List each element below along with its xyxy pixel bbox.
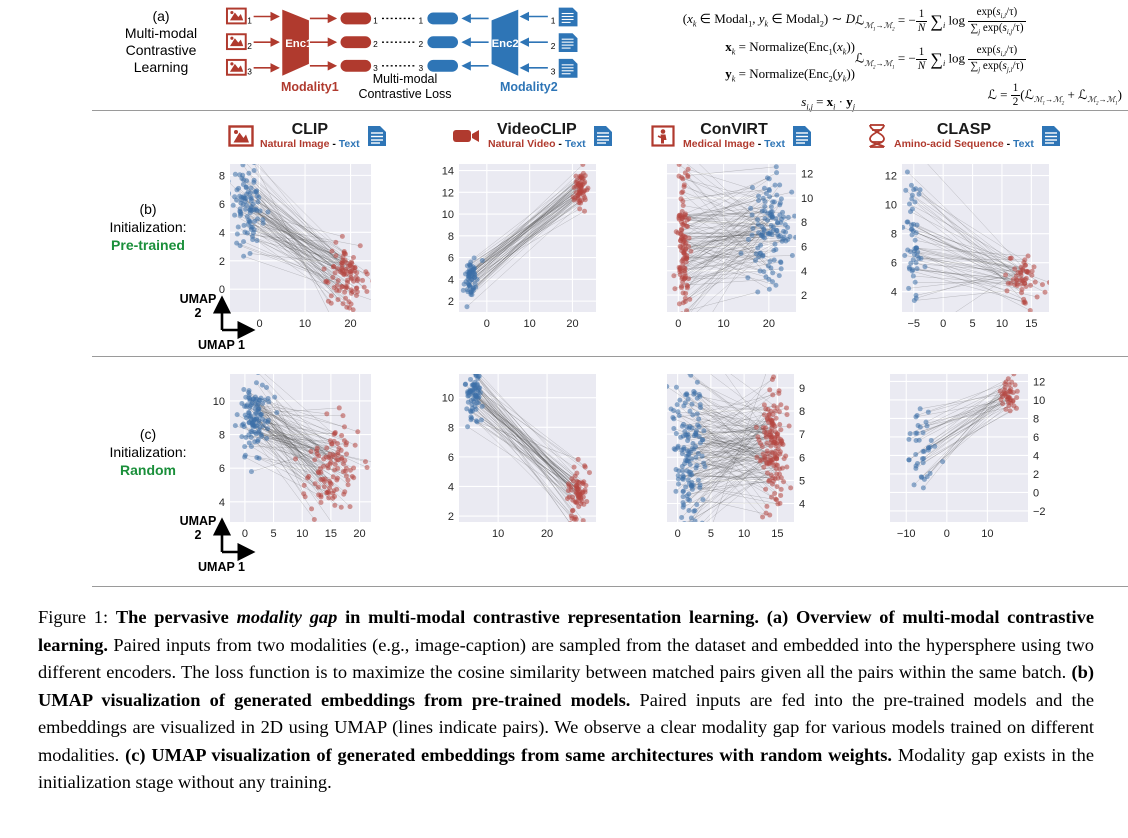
x-tick-label: 10 (981, 528, 993, 540)
encoder-2-label: Enc2 (492, 38, 519, 50)
y-tick-label: 8 (448, 231, 454, 243)
plot-canvas-convirt-pretrained: 0102024681012 (645, 158, 820, 338)
x-tick-label: 20 (541, 528, 553, 540)
model-modalities: Natural Image - Text (260, 139, 360, 150)
x-axis-label-row-c: UMAP 1 (198, 560, 245, 574)
input-index-2: 2 (247, 41, 252, 51)
modality-sep: - (556, 138, 565, 150)
modality-b: Text (1013, 138, 1034, 150)
x-tick-label: −10 (897, 528, 916, 540)
axis-arrows-row-b (213, 292, 261, 340)
document-icon (366, 124, 388, 148)
modality-a: Natural Video (488, 138, 556, 150)
equation-block-losses: ℒℳ1→ℳ2 = −1N ∑i log exp(si,i/τ)∑j exp(si… (855, 6, 1128, 118)
modality-b: Text (764, 138, 785, 150)
row-b-letter: (b) (88, 200, 208, 218)
scatter-plot-videoclip-pretrained: 010202468101214 (425, 158, 600, 338)
scatter-plot-convirt-pretrained: 0102024681012 (645, 158, 820, 338)
y-axis-label-line-2: 2 (176, 528, 220, 542)
equation-block-definitions: (xk ∈ Modal1, yk ∈ Modal2) ∼ D xk = Norm… (620, 8, 855, 118)
modality-a: Medical Image (683, 138, 755, 150)
x-tick-label: 20 (353, 528, 365, 540)
model-name: CLASP (937, 122, 991, 139)
embedding-blue-3 (427, 60, 458, 72)
input-index-1: 1 (247, 15, 252, 25)
model-modalities: Natural Video - Text (488, 139, 586, 150)
row-label-random: (c) Initialization: Random (88, 425, 208, 479)
panel-a-caption-label: (a) Multi-modal Contrastive Learning (96, 8, 226, 76)
column-header-clasp: CLASP Amino-acid Sequence - Text (866, 118, 1062, 154)
embedding-blue-index-1: 1 (419, 15, 424, 25)
column-header-clip: CLIP Natural Image - Text (228, 118, 388, 154)
y-tick-label: 4 (219, 227, 225, 239)
equation-x-normalize: xk = Normalize(Enc1(xk)) (620, 36, 855, 64)
modality-b: Text (339, 138, 360, 150)
y-tick-label: −2 (1033, 506, 1046, 518)
x-tick-label: 10 (492, 528, 504, 540)
panel-a-title-line-1: Multi-modal (96, 25, 226, 42)
input-index-3: 3 (247, 67, 252, 77)
y-axis-label-row-c: UMAP 2 (176, 514, 220, 542)
y-tick-label: 4 (801, 266, 807, 278)
model-modalities: Medical Image - Text (683, 139, 785, 150)
embedding-red-2 (341, 36, 372, 48)
x-tick-label: 0 (675, 528, 681, 540)
y-axis-label-row-b: UMAP 2 (176, 292, 220, 320)
x-tick-label: 20 (763, 318, 775, 330)
embedding-red-index-1: 1 (373, 15, 378, 25)
y-tick-label: 8 (448, 422, 454, 434)
video-camera-icon (452, 124, 482, 148)
y-tick-label: 2 (219, 256, 225, 268)
y-tick-label: 2 (448, 511, 454, 523)
scatter-plot-videoclip-random: 1020246810 (425, 368, 600, 548)
model-name: ConVIRT (700, 122, 768, 139)
modality-sep: - (329, 138, 338, 150)
contrastive-loss-label: Multi-modal Contrastive Loss (345, 72, 465, 102)
y-tick-label: 8 (219, 170, 225, 182)
x-tick-label: 20 (566, 318, 578, 330)
modality-a: Natural Image (260, 138, 329, 150)
xray-icon (651, 124, 677, 148)
x-tick-label: 10 (738, 528, 750, 540)
caption-bold-3: (c) UMAP visualization of generated embe… (125, 745, 892, 765)
x-tick-label: 5 (969, 318, 975, 330)
y-tick-label: 10 (1033, 395, 1045, 407)
y-tick-label: 14 (442, 166, 454, 178)
y-tick-label: 12 (1033, 376, 1045, 388)
embedding-red-1 (341, 13, 372, 25)
document-icon (559, 8, 578, 27)
loss-label-line-1: Multi-modal (345, 72, 465, 87)
y-tick-label: 2 (1033, 469, 1039, 481)
equation-loss-m1-m2: ℒℳ1→ℳ2 = −1N ∑i log exp(si,i/τ)∑j exp(si… (855, 6, 1128, 44)
y-tick-label: 12 (442, 187, 454, 199)
loss-label-line-2: Contrastive Loss (345, 87, 465, 102)
embedding-blue-2 (427, 36, 458, 48)
x-tick-label: 5 (708, 528, 714, 540)
equation-y-normalize: yk = Normalize(Enc2(yk)) (620, 63, 855, 91)
dna-helix-icon (866, 123, 888, 149)
plot-canvas-videoclip-pretrained: 010202468101214 (425, 158, 600, 338)
x-tick-label: 10 (717, 318, 729, 330)
document-icon (592, 124, 614, 148)
y-tick-label: 6 (448, 452, 454, 464)
encoder-1-label: Enc1 (285, 38, 312, 50)
panel-a-title-line-2: Contrastive (96, 42, 226, 59)
model-name: CLIP (292, 122, 328, 139)
x-tick-label: 0 (675, 318, 681, 330)
plot-canvas-clasp-pretrained: −50510154681012 (868, 158, 1053, 338)
x-tick-label: 5 (270, 528, 276, 540)
modality-b: Text (565, 138, 586, 150)
embedding-red-index-2: 2 (373, 39, 378, 49)
document-icon (791, 124, 813, 148)
equation-similarity: si,j = xi · yj (620, 91, 855, 119)
equation-loss-m2-m1: ℒℳ2→ℳ1 = −1N ∑i log exp(si,i/τ)∑j exp(sj… (855, 44, 1128, 82)
x-tick-label: 10 (299, 318, 311, 330)
y-tick-label: 5 (799, 475, 805, 487)
scatter-plot-convirt-random: 051015456789 (645, 368, 820, 548)
y-tick-label: 8 (891, 229, 897, 241)
y-tick-label: 6 (448, 253, 454, 265)
x-axis-label-row-b: UMAP 1 (198, 338, 245, 352)
model-name: VideoCLIP (497, 122, 577, 139)
y-tick-label: 6 (1033, 432, 1039, 444)
column-header-convirt: ConVIRT Medical Image - Text (651, 118, 813, 154)
row-label-pretrained: (b) Initialization: Pre-trained (88, 200, 208, 254)
y-tick-label: 10 (801, 193, 813, 205)
y-tick-label: 8 (799, 406, 805, 418)
x-tick-label: 15 (325, 528, 337, 540)
y-tick-label: 4 (448, 274, 454, 286)
y-tick-label: 2 (448, 296, 454, 308)
y-tick-label: 12 (885, 171, 897, 183)
doc-index-3: 3 (551, 67, 556, 77)
caption-number: Figure 1: (38, 607, 108, 627)
y-tick-label: 9 (799, 383, 805, 395)
document-icon (1040, 124, 1062, 148)
embedding-blue-1 (427, 13, 458, 25)
caption-plain-1: Paired inputs from two modalities (e.g.,… (38, 635, 1094, 683)
y-tick-label: 8 (219, 430, 225, 442)
modality-sep: - (755, 138, 764, 150)
document-icon (559, 59, 578, 78)
figure-1: (a) Multi-modal Contrastive Learning (0, 0, 1128, 838)
caption-bold-lead-1: The pervasive (116, 607, 237, 627)
y-tick-label: 7 (799, 429, 805, 441)
plot-canvas-clasp-random: −10010−2024681012 (868, 368, 1058, 548)
y-tick-label: 4 (1033, 450, 1039, 462)
x-tick-label: 15 (1025, 318, 1037, 330)
x-tick-label: 0 (944, 528, 950, 540)
y-tick-label: 2 (801, 290, 807, 302)
equation-loss-total: ℒ = 12(ℒℳ1→ℳ2 + ℒℳ2→ℳ1) (855, 82, 1128, 118)
doc-index-2: 2 (551, 41, 556, 51)
y-tick-label: 8 (1033, 413, 1039, 425)
y-tick-label: 6 (891, 258, 897, 270)
x-tick-label: 10 (524, 318, 536, 330)
y-tick-label: 10 (885, 200, 897, 212)
y-tick-label: 10 (442, 393, 454, 405)
divider-bottom (92, 586, 1128, 587)
y-axis-label-line-1: UMAP (176, 292, 220, 306)
document-icon (559, 33, 578, 52)
caption-italic-1: modality gap (237, 607, 338, 627)
scatter-plot-clasp-random: −10010−2024681012 (868, 368, 1058, 548)
embedding-blue-index-2: 2 (419, 39, 424, 49)
y-axis-label-line-1: UMAP (176, 514, 220, 528)
column-header-videoclip: VideoCLIP Natural Video - Text (452, 118, 614, 154)
y-tick-label: 6 (801, 241, 807, 253)
panel-a-title-line-3: Learning (96, 59, 226, 76)
y-tick-label: 10 (442, 209, 454, 221)
doc-index-1: 1 (551, 15, 556, 25)
embedding-red-3 (341, 60, 372, 72)
modality-a: Amino-acid Sequence (894, 138, 1004, 150)
y-tick-label: 0 (1033, 487, 1039, 499)
y-tick-label: 8 (801, 217, 807, 229)
image-icon (227, 34, 246, 49)
y-tick-label: 6 (219, 463, 225, 475)
x-tick-label: 10 (996, 318, 1008, 330)
divider-middle (92, 356, 1128, 357)
y-axis-label-line-2: 2 (176, 306, 220, 320)
y-tick-label: 4 (891, 287, 897, 299)
image-icon (228, 124, 254, 148)
image-icon (227, 9, 246, 24)
modality-1-label: Modality1 (281, 80, 339, 94)
modality-2-label: Modality2 (500, 80, 558, 94)
modality-sep: - (1004, 138, 1013, 150)
y-tick-label: 6 (219, 199, 225, 211)
y-tick-label: 6 (799, 452, 805, 464)
plot-canvas-videoclip-random: 1020246810 (425, 368, 600, 548)
x-tick-label: 0 (484, 318, 490, 330)
x-tick-label: 0 (940, 318, 946, 330)
row-b-value: Pre-trained (88, 236, 208, 254)
panel-a-letter: (a) (96, 8, 226, 25)
x-tick-label: 20 (344, 318, 356, 330)
row-c-prefix: Initialization: (88, 443, 208, 461)
y-tick-label: 4 (448, 481, 454, 493)
plot-background (902, 164, 1049, 312)
plot-canvas-convirt-random: 051015456789 (645, 368, 820, 548)
x-tick-label: 10 (296, 528, 308, 540)
x-tick-label: −5 (907, 318, 920, 330)
row-c-letter: (c) (88, 425, 208, 443)
scatter-plot-clasp-pretrained: −50510154681012 (868, 158, 1053, 338)
equation-sampling: (xk ∈ Modal1, yk ∈ Modal2) ∼ D (620, 8, 855, 36)
y-tick-label: 4 (799, 499, 805, 511)
divider-top (92, 110, 1128, 111)
row-c-value: Random (88, 461, 208, 479)
x-tick-label: 15 (771, 528, 783, 540)
y-tick-label: 4 (219, 497, 225, 509)
panel-a-overview: (a) Multi-modal Contrastive Learning (0, 0, 1128, 108)
figure-caption: Figure 1: The pervasive modality gap in … (38, 604, 1094, 797)
y-tick-label: 12 (801, 169, 813, 181)
row-b-prefix: Initialization: (88, 218, 208, 236)
image-icon (227, 60, 246, 75)
y-tick-label: 10 (213, 396, 225, 408)
axis-arrows-row-c (213, 514, 261, 562)
model-modalities: Amino-acid Sequence - Text (894, 139, 1034, 150)
